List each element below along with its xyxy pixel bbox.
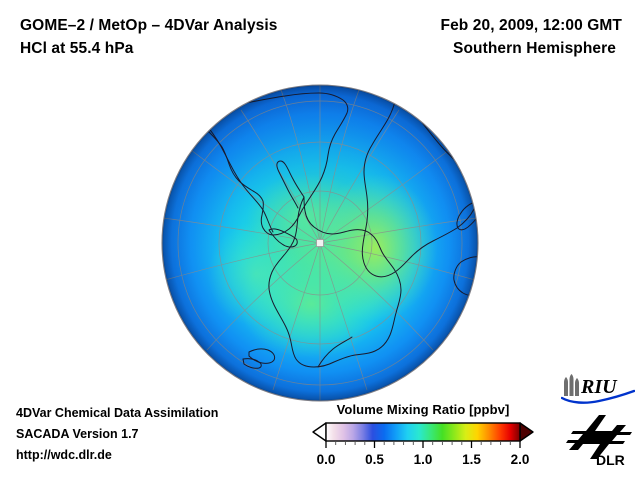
hemisphere-label: Southern Hemisphere bbox=[322, 37, 622, 60]
footer-line-version: SACADA Version 1.7 bbox=[16, 424, 218, 445]
colorbar-tick-0: 0.0 bbox=[317, 452, 336, 467]
colorbar-title: Volume Mixing Ratio [ppbv] bbox=[312, 402, 534, 417]
globe-map bbox=[161, 84, 479, 402]
footer-line-assimilation: 4DVar Chemical Data Assimilation bbox=[16, 403, 218, 424]
timestamp-label: Feb 20, 2009, 12:00 GMT bbox=[322, 14, 622, 37]
dlr-wordmark: DLR bbox=[596, 452, 625, 468]
colorbar-svg bbox=[312, 421, 534, 451]
colorbar-tick-3: 1.5 bbox=[462, 452, 481, 467]
riu-logo: RIU bbox=[561, 374, 635, 406]
riu-towers-icon bbox=[564, 374, 579, 396]
colorbar-gradient bbox=[326, 423, 520, 441]
colorbar-extend-max-arrow bbox=[520, 423, 533, 441]
colorbar-tick-labels: 0.0 0.5 1.0 1.5 2.0 bbox=[312, 452, 534, 470]
colorbar-tick-1: 0.5 bbox=[365, 452, 384, 467]
colorbar-tick-4: 2.0 bbox=[511, 452, 530, 467]
colorbar-tick-2: 1.0 bbox=[414, 452, 433, 467]
footer-line-url[interactable]: http://wdc.dlr.de bbox=[16, 445, 218, 466]
footer-credits: 4DVar Chemical Data Assimilation SACADA … bbox=[16, 403, 218, 466]
south-pole-marker bbox=[317, 240, 324, 247]
header-right: Feb 20, 2009, 12:00 GMT Southern Hemisph… bbox=[322, 14, 622, 60]
riu-wordmark: RIU bbox=[580, 376, 618, 398]
colorbar-extend-min-arrow bbox=[313, 423, 326, 441]
colorbar: Volume Mixing Ratio [ppbv] bbox=[312, 402, 534, 470]
orthographic-projection-svg bbox=[161, 84, 479, 402]
dlr-logo: DLR bbox=[566, 414, 634, 468]
